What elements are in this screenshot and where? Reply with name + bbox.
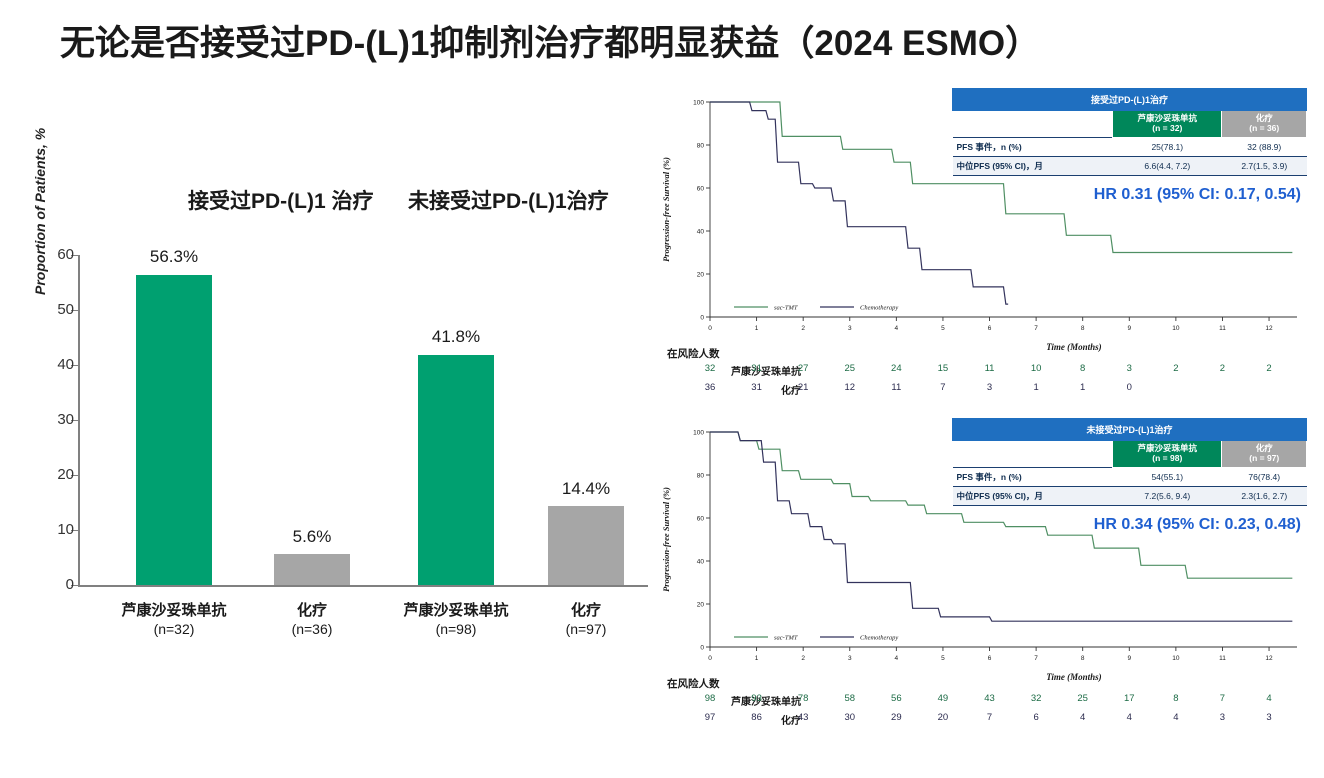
km-x-tick-label: 11 — [1219, 655, 1226, 662]
stats-value-pfs-events-sac: 25(78.1) — [1113, 137, 1222, 156]
km-legend-label-chemotherapy: Chemotherapy — [860, 305, 898, 312]
bar-value-0: 56.3% — [136, 247, 212, 267]
km-x-tick-label: 12 — [1265, 325, 1273, 332]
arm-n-chemo: (n = 97) — [1224, 454, 1304, 464]
risk-table-title: 在风险人数 — [667, 346, 720, 361]
table-row: PFS 事件，n (%) 25(78.1) 32 (88.9) — [953, 137, 1307, 156]
risk-value: 30 — [838, 712, 862, 723]
km-y-tick-label: 100 — [693, 430, 704, 437]
risk-table-title: 在风险人数 — [667, 676, 720, 691]
bar-value-1: 5.6% — [274, 527, 350, 547]
stats-table-arm-sac-tmt: 芦康沙妥珠单抗 (n = 32) — [1113, 111, 1222, 138]
bar-category-3: 化疗 — [536, 599, 636, 620]
bar-chemo-naive — [548, 506, 624, 585]
bar-plot-area: Proportion of Patients, % 0 10 20 30 40 … — [78, 255, 648, 585]
risk-value: 31 — [745, 382, 769, 393]
stats-table-header: 接受过PD-(L)1治疗 — [953, 89, 1307, 111]
risk-value: 4 — [1257, 693, 1281, 704]
stats-row-label-pfs-events: PFS 事件，n (%) — [953, 137, 1113, 156]
risk-value: 24 — [884, 363, 908, 374]
risk-row-label: 芦康沙妥珠单抗 — [661, 363, 801, 378]
bar-value-2: 41.8% — [418, 327, 494, 347]
stats-row-label-median-pfs: 中位PFS (95% CI)，月 — [953, 156, 1113, 175]
risk-value: 1 — [1071, 382, 1095, 393]
bar-category-1: 化疗 — [262, 599, 362, 620]
risk-value: 4 — [1071, 712, 1095, 723]
risk-value: 11 — [978, 363, 1002, 374]
risk-value: 21 — [791, 382, 815, 393]
risk-value: 0 — [1117, 382, 1141, 393]
risk-value: 86 — [745, 712, 769, 723]
y-tick-label-40: 40 — [34, 356, 74, 373]
risk-value: 29 — [884, 712, 908, 723]
risk-row-chemo: 化疗 9786433029207644433 — [655, 712, 1315, 728]
arm-n-chemo: (n = 36) — [1224, 124, 1304, 134]
stats-table-arm-row: 芦康沙妥珠单抗 (n = 98) 化疗 (n = 97) — [953, 441, 1307, 468]
bar-category-sub-3: (n=97) — [536, 621, 636, 637]
risk-value: 11 — [884, 382, 908, 393]
km-x-tick-label: 7 — [1034, 655, 1038, 662]
y-tick-label-10: 10 — [34, 521, 74, 538]
risk-value: 7 — [1210, 693, 1234, 704]
y-axis-line — [78, 255, 80, 585]
km-y-tick-label: 0 — [700, 315, 704, 322]
table-row: 中位PFS (95% CI)，月 6.6(4.4, 7.2) 2.7(1.5, … — [953, 156, 1307, 175]
table-row: PFS 事件，n (%) 54(55.1) 76(78.4) — [953, 467, 1307, 486]
km-y-tick-label: 80 — [697, 473, 705, 480]
stats-table-blank-cell — [953, 111, 1113, 138]
bar-chart-panel: 接受过PD-(L)1 治疗 未接受过PD-(L)1治疗 Proportion o… — [18, 100, 658, 670]
km-x-tick-label: 10 — [1172, 325, 1180, 332]
km-x-tick-label: 5 — [941, 655, 945, 662]
slide-root: 无论是否接受过PD-(L)1抑制剂治疗都明显获益（2024 ESMO） 接受过P… — [0, 0, 1324, 778]
stats-value-median-pfs-chemo: 2.7(1.5, 3.9) — [1222, 156, 1307, 175]
risk-value: 10 — [1024, 363, 1048, 374]
bar-category-sub-1: (n=36) — [262, 621, 362, 637]
km-x-tick-label: 0 — [708, 325, 712, 332]
y-tick-label-0: 0 — [34, 576, 74, 593]
risk-value: 36 — [698, 382, 722, 393]
stats-table-header-row: 接受过PD-(L)1治疗 — [953, 89, 1307, 111]
risk-value: 49 — [931, 693, 955, 704]
y-axis-title: Proportion of Patients, % — [32, 128, 48, 295]
arm-n-sac-tmt: (n = 32) — [1115, 124, 1219, 134]
risk-value: 97 — [698, 712, 722, 723]
bar-chemo-prior — [274, 554, 350, 585]
km-y-axis-title: Progression-free Survival (%) — [661, 487, 671, 592]
risk-row-sac-tmt: 芦康沙妥珠单抗 98937858564943322517874 — [655, 693, 1315, 709]
risk-value: 32 — [698, 363, 722, 374]
hazard-ratio-prior-pd1: HR 0.31 (95% CI: 0.17, 0.54) — [1094, 186, 1301, 204]
risk-row-label: 化疗 — [661, 712, 801, 727]
risk-value: 56 — [884, 693, 908, 704]
km-x-axis-title: Time (Months) — [1046, 672, 1101, 682]
km-y-tick-label: 40 — [697, 559, 705, 566]
bar-group-title-left: 接受过PD-(L)1 治疗 — [188, 185, 374, 215]
stats-table-arm-chemo: 化疗 (n = 97) — [1222, 441, 1307, 468]
risk-row-sac-tmt: 芦康沙妥珠单抗 323127252415111083222 — [655, 363, 1315, 379]
risk-value: 12 — [838, 382, 862, 393]
risk-value: 15 — [931, 363, 955, 374]
km-legend-label-chemotherapy: Chemotherapy — [860, 635, 898, 642]
km-y-tick-label: 0 — [700, 645, 704, 652]
km-y-tick-label: 20 — [697, 602, 705, 609]
km-x-tick-label: 8 — [1081, 655, 1085, 662]
stats-value-pfs-events-chemo: 32 (88.9) — [1222, 137, 1307, 156]
km-y-axis-title: Progression-free Survival (%) — [661, 157, 671, 262]
stats-table-blank-cell — [953, 441, 1113, 468]
km-x-tick-label: 10 — [1172, 655, 1180, 662]
risk-value: 17 — [1117, 693, 1141, 704]
stats-row-label-pfs-events: PFS 事件，n (%) — [953, 467, 1113, 486]
risk-value: 43 — [791, 712, 815, 723]
stats-table-arm-row: 芦康沙妥珠单抗 (n = 32) 化疗 (n = 36) — [953, 111, 1307, 138]
km-x-tick-label: 11 — [1219, 325, 1226, 332]
stats-table-header-row: 未接受过PD-(L)1治疗 — [953, 419, 1307, 441]
bar-sac-tmt-naive — [418, 355, 494, 585]
risk-value: 3 — [1257, 712, 1281, 723]
bar-category-0: 芦康沙妥珠单抗 — [104, 599, 244, 620]
risk-value: 32 — [1024, 693, 1048, 704]
risk-value: 2 — [1210, 363, 1234, 374]
y-tick-label-50: 50 — [34, 301, 74, 318]
risk-value: 4 — [1164, 712, 1188, 723]
risk-row-chemo: 化疗 363121121173110 — [655, 382, 1315, 398]
km-y-tick-label: 80 — [697, 143, 705, 150]
bar-category-sub-2: (n=98) — [386, 621, 526, 637]
risk-value: 27 — [791, 363, 815, 374]
km-x-tick-label: 2 — [801, 325, 805, 332]
stats-value-median-pfs-sac: 6.6(4.4, 7.2) — [1113, 156, 1222, 175]
stats-table-arm-sac-tmt: 芦康沙妥珠单抗 (n = 98) — [1113, 441, 1222, 468]
km-y-tick-label: 100 — [693, 100, 704, 107]
risk-row-label: 芦康沙妥珠单抗 — [661, 693, 801, 708]
km-y-tick-label: 60 — [697, 516, 705, 523]
km-x-tick-label: 2 — [801, 655, 805, 662]
risk-value: 93 — [745, 693, 769, 704]
km-legend-label-sac-tmt: sac-TMT — [774, 635, 798, 642]
page-title: 无论是否接受过PD-(L)1抑制剂治疗都明显获益（2024 ESMO） — [60, 12, 1280, 68]
risk-value: 25 — [838, 363, 862, 374]
risk-value: 78 — [791, 693, 815, 704]
risk-value: 31 — [745, 363, 769, 374]
stats-table-prior-pd1: 接受过PD-(L)1治疗 芦康沙妥珠单抗 (n = 32) 化疗 (n = 36… — [952, 88, 1307, 176]
risk-value: 8 — [1071, 363, 1095, 374]
bar-category-sub-0: (n=32) — [104, 621, 244, 637]
hazard-ratio-naive-pd1: HR 0.34 (95% CI: 0.23, 0.48) — [1094, 516, 1301, 534]
km-x-tick-label: 3 — [848, 325, 852, 332]
stats-table-naive-pd1: 未接受过PD-(L)1治疗 芦康沙妥珠单抗 (n = 98) 化疗 (n = 9… — [952, 418, 1307, 506]
bar-category-2: 芦康沙妥珠单抗 — [386, 599, 526, 620]
risk-value: 43 — [978, 693, 1002, 704]
km-x-tick-label: 4 — [895, 655, 899, 662]
risk-value: 1 — [1024, 382, 1048, 393]
km-x-axis-title: Time (Months) — [1046, 342, 1101, 352]
km-x-tick-label: 6 — [988, 325, 992, 332]
stats-table-arm-chemo: 化疗 (n = 36) — [1222, 111, 1307, 138]
bar-sac-tmt-prior — [136, 275, 212, 585]
km-x-tick-label: 6 — [988, 655, 992, 662]
km-y-tick-label: 40 — [697, 229, 705, 236]
km-x-tick-label: 4 — [895, 325, 899, 332]
risk-value: 2 — [1164, 363, 1188, 374]
km-x-tick-label: 8 — [1081, 325, 1085, 332]
bar-group-title-right: 未接受过PD-(L)1治疗 — [408, 185, 609, 215]
km-x-tick-label: 7 — [1034, 325, 1038, 332]
risk-value: 4 — [1117, 712, 1141, 723]
y-tick-label-20: 20 — [34, 466, 74, 483]
km-legend-label-sac-tmt: sac-TMT — [774, 305, 798, 312]
bar-value-3: 14.4% — [548, 479, 624, 499]
risk-value: 2 — [1257, 363, 1281, 374]
km-x-tick-label: 12 — [1265, 655, 1273, 662]
km-y-tick-label: 60 — [697, 186, 705, 193]
arm-n-sac-tmt: (n = 98) — [1115, 454, 1219, 464]
y-tick-label-30: 30 — [34, 411, 74, 428]
stats-table-header: 未接受过PD-(L)1治疗 — [953, 419, 1307, 441]
risk-value: 6 — [1024, 712, 1048, 723]
y-tick-label-60: 60 — [34, 246, 74, 263]
risk-value: 25 — [1071, 693, 1095, 704]
risk-value: 7 — [978, 712, 1002, 723]
km-x-tick-label: 0 — [708, 655, 712, 662]
km-x-tick-label: 1 — [755, 325, 759, 332]
km-x-tick-label: 1 — [755, 655, 759, 662]
km-x-tick-label: 9 — [1127, 325, 1131, 332]
stats-value-median-pfs-sac: 7.2(5.6, 9.4) — [1113, 486, 1222, 505]
stats-value-pfs-events-sac: 54(55.1) — [1113, 467, 1222, 486]
stats-value-median-pfs-chemo: 2.3(1.6, 2.7) — [1222, 486, 1307, 505]
km-panel-prior-pd1: 0204060801000123456789101112Time (Months… — [655, 84, 1315, 414]
risk-value: 20 — [931, 712, 955, 723]
stats-value-pfs-events-chemo: 76(78.4) — [1222, 467, 1307, 486]
risk-value: 3 — [1210, 712, 1234, 723]
km-y-tick-label: 20 — [697, 272, 705, 279]
risk-value: 58 — [838, 693, 862, 704]
risk-value: 98 — [698, 693, 722, 704]
km-x-tick-label: 3 — [848, 655, 852, 662]
x-axis-line — [78, 585, 648, 587]
risk-value: 8 — [1164, 693, 1188, 704]
table-row: 中位PFS (95% CI)，月 7.2(5.6, 9.4) 2.3(1.6, … — [953, 486, 1307, 505]
km-x-tick-label: 5 — [941, 325, 945, 332]
risk-value: 3 — [978, 382, 1002, 393]
risk-value: 3 — [1117, 363, 1141, 374]
km-panel-naive-pd1: 0204060801000123456789101112Time (Months… — [655, 414, 1315, 744]
km-x-tick-label: 9 — [1127, 655, 1131, 662]
stats-row-label-median-pfs: 中位PFS (95% CI)，月 — [953, 486, 1113, 505]
risk-value: 7 — [931, 382, 955, 393]
risk-row-label: 化疗 — [661, 382, 801, 397]
